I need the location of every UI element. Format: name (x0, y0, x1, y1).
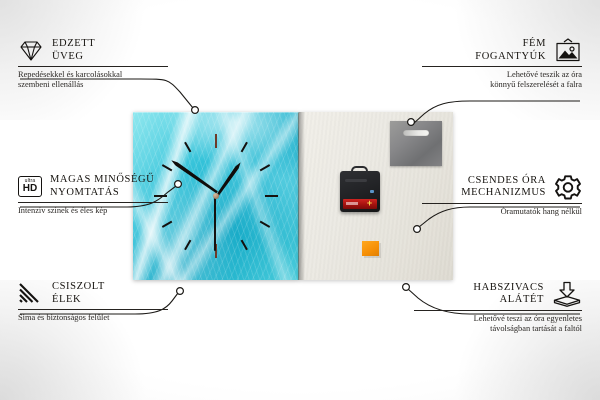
ultra-hd-icon: ultra HD (18, 176, 42, 197)
gear-icon (554, 174, 582, 200)
callout-header: ultra HD MAGAS MINŐSÉGŰ NYOMTATÁS (18, 174, 168, 199)
callout-title: CSENDES ÓRA MECHANIZMUS (461, 175, 546, 200)
callout-description: Lehetővé teszi az óra egyenletes távolsá… (414, 314, 582, 335)
callout-print-quality: ultra HD MAGAS MINŐSÉGŰ NYOMTATÁS Intenz… (18, 174, 168, 216)
ultra-hd-icon-large-text: HD (23, 184, 37, 194)
foam-spacer-pad (362, 241, 379, 256)
callout-header: EDZETT ÜVEG (18, 38, 168, 63)
aa-battery: + (343, 199, 377, 209)
callout-description: Óramutatók hang nélkül (422, 207, 582, 217)
mechanism-slot (345, 179, 367, 182)
callout-title: HABSZIVACS ALÁTÉT (473, 282, 544, 307)
callout-header: FÉM FOGANTYÚK (422, 38, 582, 63)
callout-description: Repedésekkel és karcolásokkal szembeni e… (18, 70, 168, 91)
callout-header: CSENDES ÓRA MECHANIZMUS (422, 174, 582, 200)
product-composite: + (133, 112, 453, 280)
picture-hanger-icon (554, 38, 582, 63)
clock-mechanism-housing: + (340, 171, 380, 212)
callout-divider (18, 309, 168, 310)
callout-polished-edges: CSISZOLT ÉLEK Sima és biztonságos felüle… (18, 281, 168, 323)
wire-endpoint-foam-spacer (403, 284, 410, 291)
poster-canvas: + (0, 0, 600, 400)
callout-title: FÉM FOGANTYÚK (475, 38, 546, 63)
callout-foam-spacer: HABSZIVACS ALÁTÉT Lehetővé teszi az óra … (414, 281, 582, 335)
callout-description: Sima és biztonságos felület (18, 313, 168, 323)
foam-pad-arrow-icon (552, 281, 582, 307)
callout-title: CSISZOLT ÉLEK (52, 281, 105, 306)
callout-description: Lehetővé teszik az óra könnyű felszerelé… (422, 70, 582, 91)
diamond-icon (18, 39, 44, 63)
callout-divider (18, 202, 168, 203)
callout-title: MAGAS MINŐSÉGŰ NYOMTATÁS (50, 174, 154, 199)
callout-silent-mechanism: CSENDES ÓRA MECHANIZMUS Óramutatók hang … (422, 174, 582, 217)
callout-divider (422, 203, 582, 204)
callout-divider (414, 310, 582, 311)
mechanism-indicator-dot (370, 190, 374, 193)
callout-description: Intenzív színek és éles kép (18, 206, 168, 216)
wire-endpoint-polished-edges (177, 288, 184, 295)
callout-metal-handles: FÉM FOGANTYÚK Lehetővé teszik az óra kön… (422, 38, 582, 91)
battery-plus-marker: + (366, 200, 373, 207)
callout-title: EDZETT ÜVEG (52, 38, 95, 63)
mechanism-hanging-loop (351, 166, 368, 174)
callout-tempered-glass: EDZETT ÜVEG Repedésekkel és karcolásokka… (18, 38, 168, 91)
metal-hanger-plate (390, 121, 442, 166)
callout-divider (18, 66, 168, 67)
bevelled-edge-icon (18, 282, 44, 306)
callout-header: CSISZOLT ÉLEK (18, 281, 168, 306)
callout-divider (422, 66, 582, 67)
callout-header: HABSZIVACS ALÁTÉT (414, 281, 582, 307)
